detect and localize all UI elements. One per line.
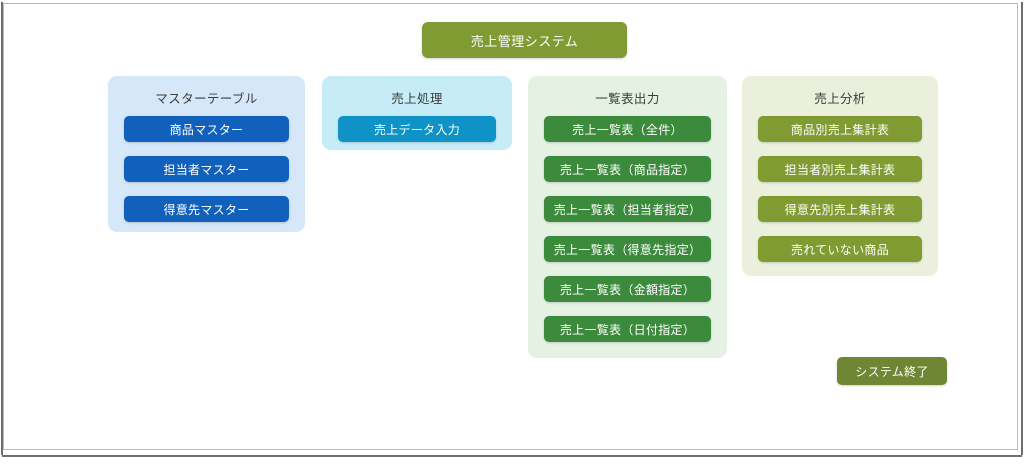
- button-summary-by-staff[interactable]: 担当者別売上集計表: [758, 156, 922, 182]
- window-right-edge: [1021, 2, 1023, 460]
- panel-list-output: 一覧表出力 売上一覧表（全件） 売上一覧表（商品指定） 売上一覧表（担当者指定）…: [528, 76, 727, 358]
- button-sales-list-by-product[interactable]: 売上一覧表（商品指定）: [544, 156, 711, 182]
- panel-body-list-output: 売上一覧表（全件） 売上一覧表（商品指定） 売上一覧表（担当者指定） 売上一覧表…: [528, 116, 727, 342]
- button-sales-list-by-customer[interactable]: 売上一覧表（得意先指定）: [544, 236, 711, 262]
- system-title-banner: 売上管理システム: [422, 22, 627, 58]
- application-window: 売上管理システム マスターテーブル 商品マスター 担当者マスター 得意先マスター…: [3, 3, 1018, 450]
- button-sales-list-all[interactable]: 売上一覧表（全件）: [544, 116, 711, 142]
- button-summary-by-customer[interactable]: 得意先別売上集計表: [758, 196, 922, 222]
- button-sales-list-by-date[interactable]: 売上一覧表（日付指定）: [544, 316, 711, 342]
- window-left-edge: [1, 2, 3, 460]
- button-sales-list-by-staff[interactable]: 売上一覧表（担当者指定）: [544, 196, 711, 222]
- button-product-master[interactable]: 商品マスター: [124, 116, 289, 142]
- window-bottom-edge: [0, 455, 1024, 464]
- button-summary-by-product[interactable]: 商品別売上集計表: [758, 116, 922, 142]
- panel-body-sales-processing: 売上データ入力: [322, 116, 512, 142]
- panel-title-list-output: 一覧表出力: [528, 76, 727, 116]
- panel-sales-analysis: 売上分析 商品別売上集計表 担当者別売上集計表 得意先別売上集計表 売れていない…: [742, 76, 938, 276]
- panel-title-master-table: マスターテーブル: [108, 76, 305, 116]
- button-sales-data-entry[interactable]: 売上データ入力: [338, 116, 496, 142]
- button-customer-master[interactable]: 得意先マスター: [124, 196, 289, 222]
- button-staff-master[interactable]: 担当者マスター: [124, 156, 289, 182]
- panel-body-sales-analysis: 商品別売上集計表 担当者別売上集計表 得意先別売上集計表 売れていない商品: [742, 116, 938, 262]
- panel-title-sales-analysis: 売上分析: [742, 76, 938, 116]
- system-exit-button[interactable]: システム終了: [837, 357, 947, 385]
- panel-title-sales-processing: 売上処理: [322, 76, 512, 116]
- panel-master-table: マスターテーブル 商品マスター 担当者マスター 得意先マスター: [108, 76, 305, 232]
- panel-sales-processing: 売上処理 売上データ入力: [322, 76, 512, 150]
- button-unsold-products[interactable]: 売れていない商品: [758, 236, 922, 262]
- panel-body-master-table: 商品マスター 担当者マスター 得意先マスター: [108, 116, 305, 222]
- button-sales-list-by-amount[interactable]: 売上一覧表（金額指定）: [544, 276, 711, 302]
